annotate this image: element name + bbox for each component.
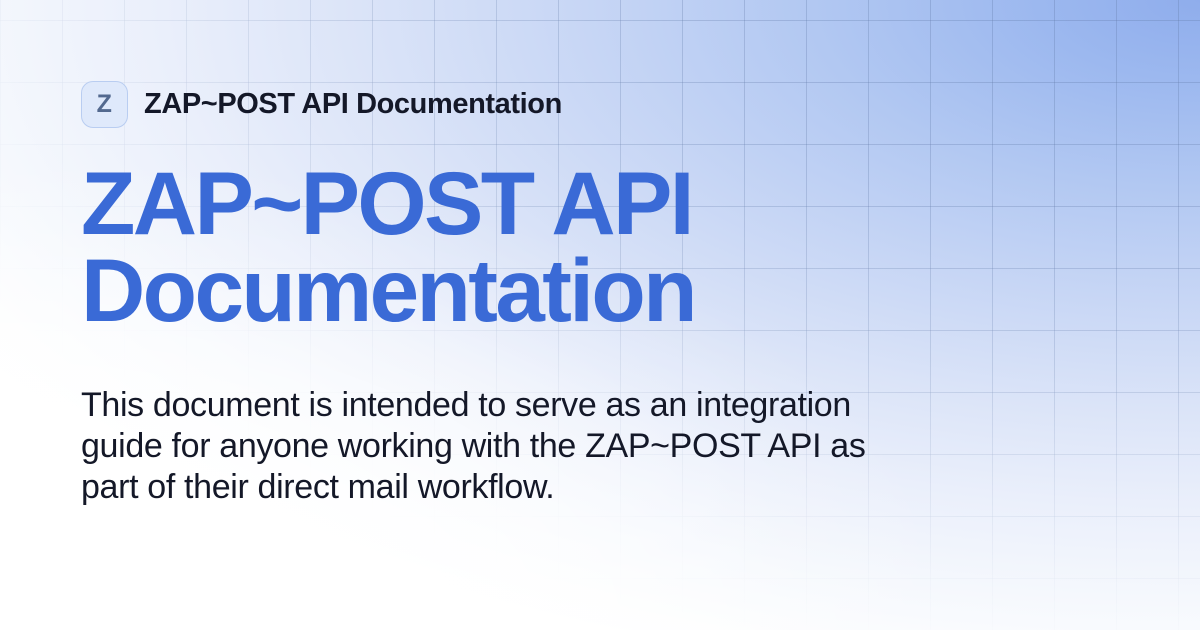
page-description: This document is intended to serve as an… — [81, 385, 871, 508]
page-title: ZAP~POST API Documentation — [81, 160, 841, 334]
og-card: Z ZAP~POST API Documentation ZAP~POST AP… — [0, 0, 1200, 630]
page-title-line-2: Documentation — [81, 247, 841, 334]
zappost-logo-icon: Z — [97, 92, 113, 117]
card-content: Z ZAP~POST API Documentation ZAP~POST AP… — [81, 0, 1121, 630]
brand-title: ZAP~POST API Documentation — [144, 88, 562, 121]
brand-badge: Z — [81, 81, 128, 128]
page-title-line-1: ZAP~POST API — [81, 160, 841, 247]
brand-row: Z ZAP~POST API Documentation — [81, 81, 562, 128]
